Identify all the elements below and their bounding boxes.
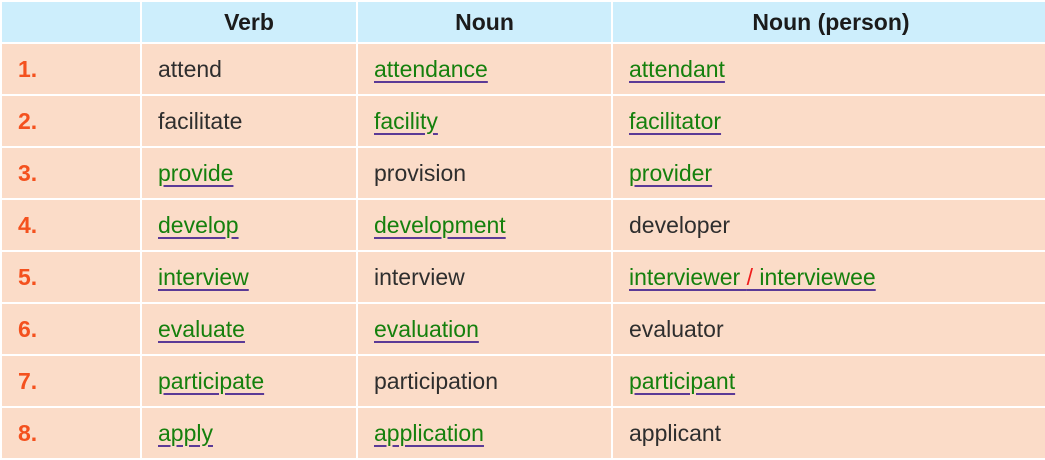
cell-noun-text: evaluation bbox=[374, 316, 479, 342]
cell-verb-text: attend bbox=[158, 56, 222, 82]
row-number: 5. bbox=[2, 252, 140, 302]
cell-noun-text: development bbox=[374, 212, 506, 238]
row-number: 4. bbox=[2, 200, 140, 250]
cell-verb: participate bbox=[142, 356, 356, 406]
cell-verb: develop bbox=[142, 200, 356, 250]
cell-noun-person-text: applicant bbox=[629, 420, 721, 446]
cell-verb-text: participate bbox=[158, 368, 264, 394]
cell-verb-text: apply bbox=[158, 420, 213, 446]
word-forms-table: Verb Noun Noun (person) 1.attendattendan… bbox=[0, 0, 1045, 460]
table-header: Verb Noun Noun (person) bbox=[2, 2, 1045, 42]
cell-noun-person: participant bbox=[613, 356, 1045, 406]
cell-verb: facilitate bbox=[142, 96, 356, 146]
word-separator: / bbox=[747, 264, 753, 290]
row-number: 1. bbox=[2, 44, 140, 94]
cell-verb-text: provide bbox=[158, 160, 233, 186]
cell-noun-person: provider bbox=[613, 148, 1045, 198]
table-row: 8.applyapplicationapplicant bbox=[2, 408, 1045, 458]
cell-noun: provision bbox=[358, 148, 611, 198]
row-number: 6. bbox=[2, 304, 140, 354]
column-header-noun: Noun bbox=[358, 2, 611, 42]
cell-noun-person: attendant bbox=[613, 44, 1045, 94]
cell-noun-person-text: participant bbox=[629, 368, 735, 394]
cell-noun-text: provision bbox=[374, 160, 466, 186]
cell-noun-text: application bbox=[374, 420, 484, 446]
header-row: Verb Noun Noun (person) bbox=[2, 2, 1045, 42]
cell-noun: application bbox=[358, 408, 611, 458]
cell-noun-person: interviewer / interviewee bbox=[613, 252, 1045, 302]
table-row: 7.participateparticipationparticipant bbox=[2, 356, 1045, 406]
cell-verb: attend bbox=[142, 44, 356, 94]
table-row: 6.evaluateevaluationevaluator bbox=[2, 304, 1045, 354]
cell-noun-person: evaluator bbox=[613, 304, 1045, 354]
cell-noun-person-text: interviewer / interviewee bbox=[629, 264, 876, 290]
cell-noun-person: applicant bbox=[613, 408, 1045, 458]
column-header-noun-person: Noun (person) bbox=[613, 2, 1045, 42]
table-row: 4.developdevelopmentdeveloper bbox=[2, 200, 1045, 250]
table-row: 3.provideprovisionprovider bbox=[2, 148, 1045, 198]
cell-noun-text: attendance bbox=[374, 56, 488, 82]
cell-noun-person-text: provider bbox=[629, 160, 712, 186]
cell-noun: evaluation bbox=[358, 304, 611, 354]
cell-noun: development bbox=[358, 200, 611, 250]
cell-verb-text: evaluate bbox=[158, 316, 245, 342]
cell-noun-person-text: developer bbox=[629, 212, 730, 238]
table-row: 5.interviewinterviewinterviewer / interv… bbox=[2, 252, 1045, 302]
cell-verb: interview bbox=[142, 252, 356, 302]
cell-noun-person: developer bbox=[613, 200, 1045, 250]
table-body: 1.attendattendanceattendant2.facilitatef… bbox=[2, 44, 1045, 458]
cell-verb: evaluate bbox=[142, 304, 356, 354]
row-number: 2. bbox=[2, 96, 140, 146]
row-number: 7. bbox=[2, 356, 140, 406]
column-header-verb: Verb bbox=[142, 2, 356, 42]
cell-verb-text: facilitate bbox=[158, 108, 242, 134]
cell-verb: apply bbox=[142, 408, 356, 458]
cell-noun-person: facilitator bbox=[613, 96, 1045, 146]
cell-noun: attendance bbox=[358, 44, 611, 94]
cell-noun-text: participation bbox=[374, 368, 498, 394]
column-header-number bbox=[2, 2, 140, 42]
table-row: 1.attendattendanceattendant bbox=[2, 44, 1045, 94]
cell-verb-text: interview bbox=[158, 264, 249, 290]
cell-noun-person-text: attendant bbox=[629, 56, 725, 82]
cell-noun: participation bbox=[358, 356, 611, 406]
cell-noun: facility bbox=[358, 96, 611, 146]
cell-noun-text: interview bbox=[374, 264, 465, 290]
row-number: 8. bbox=[2, 408, 140, 458]
row-number: 3. bbox=[2, 148, 140, 198]
cell-noun-text: facility bbox=[374, 108, 438, 134]
cell-noun-person-text: evaluator bbox=[629, 316, 724, 342]
cell-verb-text: develop bbox=[158, 212, 239, 238]
cell-noun-person-text: facilitator bbox=[629, 108, 721, 134]
table-row: 2.facilitatefacilityfacilitator bbox=[2, 96, 1045, 146]
cell-verb: provide bbox=[142, 148, 356, 198]
cell-noun: interview bbox=[358, 252, 611, 302]
